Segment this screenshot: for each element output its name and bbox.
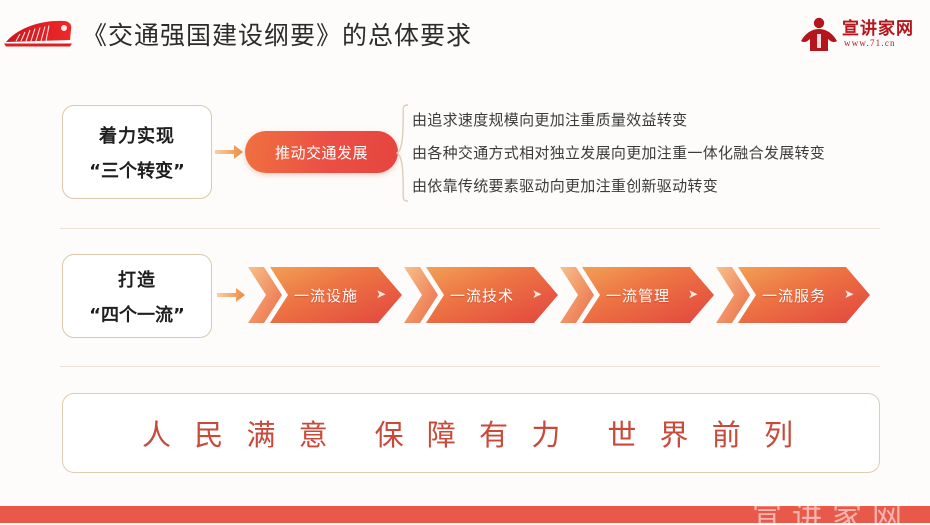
chevron-item: 一流管理 ➤	[560, 267, 714, 323]
chevron-label: 一流管理	[598, 267, 678, 323]
list-item: 由追求速度规模向更加注重质量效益转变	[412, 104, 912, 137]
chevron-item: 一流服务 ➤	[716, 267, 870, 323]
bottom-bar: 宣讲家网	[0, 506, 930, 523]
label-box-line1: 着力实现	[99, 122, 175, 148]
logo-url: www.71.cn	[844, 38, 896, 48]
chevron-tip-icon: ➤	[688, 288, 698, 300]
arrow-right-icon	[216, 284, 246, 306]
label-box-line2: “三个转变”	[89, 157, 185, 183]
slogan-item: 人 民 满 意	[142, 412, 335, 454]
curly-brace-icon	[396, 104, 410, 202]
footer-watermark: 宣讲家网	[752, 505, 912, 525]
site-logo: 宣讲家网 www.71.cn	[798, 12, 918, 56]
chevron-tip-icon: ➤	[532, 288, 542, 300]
chevron-tip-icon: ➤	[376, 288, 386, 300]
pill-label: 推动交通发展	[275, 142, 368, 163]
chevron-label: 一流设施	[286, 267, 366, 323]
pill-promote-transport: 推动交通发展	[245, 131, 398, 173]
label-box-three-changes: 着力实现 “三个转变”	[62, 105, 212, 199]
slide-canvas: 《交通强国建设纲要》的总体要求 宣讲家网 www.71.cn 着力实现 “三个转…	[0, 0, 930, 523]
arrow-right-icon	[214, 141, 244, 163]
chevron-row: 一流设施 ➤ 一流技术 ➤ 一流管理 ➤ 一流服务 ➤	[248, 267, 888, 323]
page-title: 《交通强国建设纲要》的总体要求	[82, 16, 472, 52]
speaker-figure-icon	[798, 14, 840, 54]
slogan-box: 人 民 满 意 保 障 有 力 世 界 前 列	[62, 393, 880, 473]
slogan-item: 世 界 前 列	[607, 412, 800, 454]
slogan-item: 保 障 有 力	[375, 412, 568, 454]
label-box-line2: “四个一流”	[89, 301, 185, 327]
divider-two	[60, 366, 880, 367]
train-icon	[2, 18, 74, 52]
slogan-group: 人 民 满 意 保 障 有 力 世 界 前 列	[142, 412, 800, 454]
divider-one	[60, 228, 880, 229]
chevron-tip-icon: ➤	[844, 288, 854, 300]
chevron-label: 一流服务	[754, 267, 834, 323]
label-box-four-firsts: 打造 “四个一流”	[62, 254, 212, 338]
logo-text: 宣讲家网	[842, 14, 914, 39]
chevron-item: 一流技术 ➤	[404, 267, 558, 323]
label-box-line1: 打造	[118, 266, 156, 292]
chevron-label: 一流技术	[442, 267, 522, 323]
list-item: 由各种交通方式相对独立发展向更加注重一体化融合发展转变	[412, 137, 912, 170]
chevron-item: 一流设施 ➤	[248, 267, 402, 323]
three-changes-list: 由追求速度规模向更加注重质量效益转变 由各种交通方式相对独立发展向更加注重一体化…	[412, 104, 912, 204]
list-item: 由依靠传统要素驱动向更加注重创新驱动转变	[412, 170, 912, 203]
